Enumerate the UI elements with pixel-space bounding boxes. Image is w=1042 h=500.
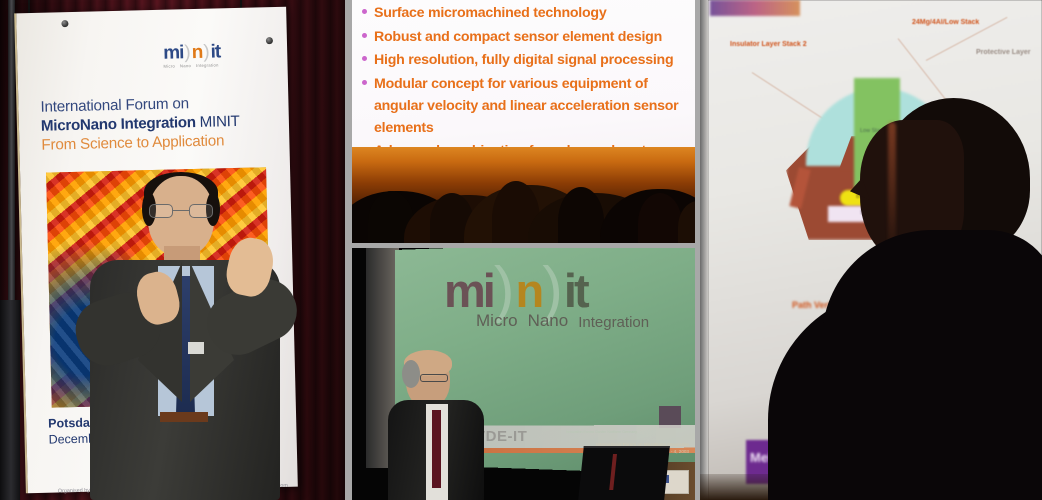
center-bottom-panel-title-slide: mi ) n ) it Micro Nano Integration VDI/V… bbox=[352, 248, 695, 500]
bullet-dot-icon bbox=[362, 80, 367, 85]
banner-stand-base bbox=[0, 300, 20, 500]
banner-logo-sub-integration: Integration bbox=[196, 62, 219, 68]
speaker-a-glasses bbox=[148, 204, 214, 218]
slide-logo-slash-2: ) bbox=[542, 268, 563, 313]
right-panel-diagram-speaker: Insulator Layer Stack 2 24Mg/4Al/Low Sta… bbox=[700, 0, 1042, 500]
speaker-b-hair bbox=[402, 360, 420, 388]
banner-logo-slash-1: ) bbox=[184, 43, 191, 62]
bullet-text: Robust and compact sensor element design bbox=[374, 27, 662, 49]
diagram-label-protective: Protective Layer bbox=[976, 48, 1042, 58]
list-item: High resolution, fully digital signal pr… bbox=[362, 50, 691, 72]
panel-separator-left bbox=[345, 0, 352, 500]
center-top-panel-bullet-slide: Surface micromachined technology Robust … bbox=[352, 0, 695, 243]
bullet-text: High resolution, fully digital signal pr… bbox=[374, 50, 673, 72]
banner-line-3: From Science to Application bbox=[41, 131, 283, 154]
slide-logo-it: it bbox=[564, 270, 587, 312]
slide-logo-mi: mi bbox=[444, 270, 493, 312]
banner-stand-pole bbox=[8, 0, 15, 300]
center-speaker-figure bbox=[384, 352, 504, 500]
right-speaker-silhouette bbox=[798, 80, 1042, 500]
speaker-b-glasses bbox=[420, 374, 448, 382]
bullet-dot-icon bbox=[362, 9, 367, 14]
diagram-label-insulator: Insulator Layer Stack 2 bbox=[730, 40, 820, 50]
audience-silhouettes bbox=[352, 147, 695, 243]
banner-grommet-right bbox=[266, 37, 273, 44]
speaker-c-torso bbox=[822, 230, 1042, 500]
speaker-a-belt bbox=[160, 412, 208, 422]
speaker-a-name-badge bbox=[188, 342, 204, 354]
list-item: Modular concept for various equipment of… bbox=[362, 74, 691, 139]
banner-logo-sub-nano: Nano bbox=[180, 63, 191, 68]
bullet-dot-icon bbox=[362, 56, 367, 61]
list-item: Robust and compact sensor element design bbox=[362, 27, 691, 49]
slide-word-integration: Integration bbox=[578, 314, 649, 331]
screen-left-edge bbox=[700, 0, 708, 500]
minit-slide-logo: mi ) n ) it Micro Nano Integration bbox=[444, 268, 649, 331]
presenter-laptop bbox=[578, 446, 670, 500]
slide-word-nano: Nano bbox=[528, 311, 569, 331]
banner-logo-slash-2: ) bbox=[203, 43, 210, 62]
banner-logo-sub-micro: Micro bbox=[163, 63, 175, 68]
minit-banner-logo: mi ) n ) it Micro Nano Integration bbox=[163, 41, 264, 68]
left-speaker-figure bbox=[60, 176, 310, 500]
bullet-list: Surface micromachined technology Robust … bbox=[362, 3, 691, 165]
banner-logo-n: n bbox=[191, 43, 202, 62]
banner-line-2-light: MINIT bbox=[196, 113, 240, 131]
banner-grommet-left bbox=[61, 20, 68, 27]
collage-stage: mi ) n ) it Micro Nano Integration Inter… bbox=[0, 0, 1042, 500]
slide-top-color-strip bbox=[710, 0, 800, 16]
banner-headline-block: International Forum on MicroNano Integra… bbox=[40, 93, 283, 154]
slide-logo-n: n bbox=[516, 270, 542, 312]
slide-credit-line: Innovation Forum Cluster Northern German… bbox=[566, 430, 637, 434]
bullet-dot-icon bbox=[362, 33, 367, 38]
list-item: Surface micromachined technology bbox=[362, 3, 691, 25]
slide-logo-slash-1: ) bbox=[494, 268, 515, 313]
banner-logo-it: it bbox=[210, 42, 220, 61]
slide-word-micro: Micro bbox=[476, 311, 518, 331]
speaker-b-necktie bbox=[432, 410, 441, 488]
bullet-text: Modular concept for various equipment of… bbox=[374, 74, 691, 139]
bullet-text: Surface micromachined technology bbox=[374, 3, 606, 25]
banner-line-2-bold: MicroNano Integration bbox=[41, 114, 196, 135]
banner-logo-mi: mi bbox=[163, 43, 184, 62]
diagram-label-stack: 24Mg/4Al/Low Stack bbox=[912, 18, 1032, 28]
left-panel-banner-speaker: mi ) n ) it Micro Nano Integration Inter… bbox=[0, 0, 345, 500]
